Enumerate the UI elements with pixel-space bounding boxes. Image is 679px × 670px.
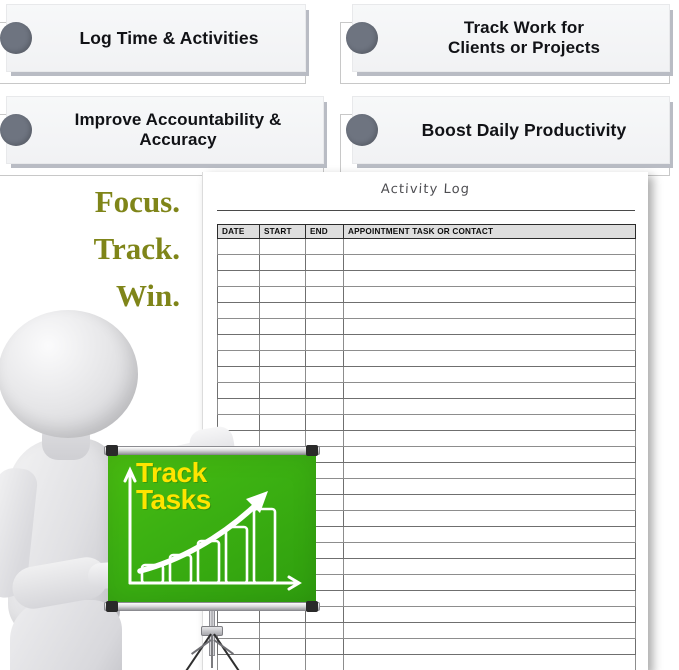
screen-top-bar (104, 446, 320, 455)
table-header-row: DATE START END APPOINTMENT TASK OR CONTA… (218, 225, 636, 239)
table-cell[interactable] (218, 255, 260, 271)
table-cell[interactable] (306, 303, 344, 319)
table-cell[interactable] (344, 319, 636, 335)
screen-face: Track Tasks (108, 455, 316, 603)
table-cell[interactable] (344, 351, 636, 367)
circle-bullet-icon (0, 114, 32, 146)
table-cell[interactable] (344, 639, 636, 655)
table-cell[interactable] (218, 335, 260, 351)
table-row[interactable] (218, 239, 636, 255)
projection-screen: Track Tasks (104, 446, 320, 670)
tripod-brace-right (213, 639, 234, 655)
table-cell[interactable] (260, 255, 306, 271)
table-cell[interactable] (260, 351, 306, 367)
table-cell[interactable] (344, 303, 636, 319)
table-cell[interactable] (344, 511, 636, 527)
banner-title-line1: Track (136, 459, 306, 486)
table-row[interactable] (218, 399, 636, 415)
table-cell[interactable] (344, 623, 636, 639)
feature-label: Boost Daily Productivity (388, 96, 660, 164)
screen-cap-top-right (306, 445, 318, 456)
table-cell[interactable] (344, 527, 636, 543)
table-cell[interactable] (218, 399, 260, 415)
table-cell[interactable] (306, 399, 344, 415)
chart-bar-5 (254, 509, 275, 583)
table-cell[interactable] (306, 351, 344, 367)
feature-label-line1: Track Work for (464, 18, 584, 37)
table-cell[interactable] (218, 319, 260, 335)
table-cell[interactable] (344, 287, 636, 303)
feature-label: Track Work for Clients or Projects (388, 4, 660, 72)
column-header-date: DATE (218, 225, 260, 239)
banner-title-line2: Tasks (136, 486, 306, 513)
feature-label-line2: Accuracy (139, 130, 216, 149)
table-cell[interactable] (306, 383, 344, 399)
chart-bar-4 (226, 527, 247, 583)
table-row[interactable] (218, 415, 636, 431)
table-row[interactable] (218, 255, 636, 271)
table-cell[interactable] (218, 239, 260, 255)
column-header-end: END (306, 225, 344, 239)
table-row[interactable] (218, 335, 636, 351)
slogan-line-2: Track. (20, 225, 180, 272)
table-cell[interactable] (344, 383, 636, 399)
table-cell[interactable] (344, 575, 636, 591)
table-cell[interactable] (218, 303, 260, 319)
table-cell[interactable] (344, 399, 636, 415)
table-cell[interactable] (260, 383, 306, 399)
tripod-center-post (211, 634, 213, 668)
table-cell[interactable] (344, 495, 636, 511)
table-cell[interactable] (344, 415, 636, 431)
column-header-start: START (260, 225, 306, 239)
table-cell[interactable] (306, 335, 344, 351)
column-header-task: APPOINTMENT TASK OR CONTACT (344, 225, 636, 239)
table-cell[interactable] (306, 255, 344, 271)
table-cell[interactable] (306, 367, 344, 383)
circle-bullet-icon (0, 22, 32, 54)
screen-cap-top-left (106, 445, 118, 456)
table-cell[interactable] (260, 319, 306, 335)
table-cell[interactable] (260, 271, 306, 287)
feature-label-line1: Improve Accountability & (75, 110, 282, 129)
tripod-leg-left (184, 633, 211, 670)
feature-label-line2: Clients or Projects (448, 38, 600, 57)
table-cell[interactable] (344, 607, 636, 623)
table-cell[interactable] (260, 303, 306, 319)
table-cell[interactable] (260, 239, 306, 255)
table-cell[interactable] (344, 271, 636, 287)
screen-cap-bottom-left (106, 601, 118, 612)
table-cell[interactable] (306, 271, 344, 287)
page-title: Activity Log (203, 182, 649, 197)
table-cell[interactable] (306, 319, 344, 335)
screen-cap-bottom-right (306, 601, 318, 612)
figure-head (0, 310, 138, 438)
table-cell[interactable] (344, 559, 636, 575)
feature-label: Log Time & Activities (42, 4, 296, 72)
circle-bullet-icon (346, 22, 378, 54)
table-cell[interactable] (344, 335, 636, 351)
circle-bullet-icon (346, 114, 378, 146)
slogan-line-1: Focus. (20, 178, 180, 225)
table-cell[interactable] (344, 255, 636, 271)
table-cell[interactable] (344, 367, 636, 383)
banner-title: Track Tasks (136, 459, 306, 514)
tripod-stand (200, 610, 224, 670)
table-cell[interactable] (344, 655, 636, 670)
table-row[interactable] (218, 271, 636, 287)
table-cell[interactable] (260, 399, 306, 415)
table-cell[interactable] (306, 415, 344, 431)
table-cell[interactable] (260, 367, 306, 383)
table-row[interactable] (218, 303, 636, 319)
slogan: Focus. Track. Win. (20, 178, 180, 319)
table-cell[interactable] (260, 431, 306, 447)
table-cell[interactable] (218, 351, 260, 367)
table-cell[interactable] (344, 463, 636, 479)
table-row[interactable] (218, 367, 636, 383)
tripod-hub (201, 626, 223, 636)
table-row[interactable] (218, 383, 636, 399)
feature-label: Improve Accountability & Accuracy (42, 96, 314, 164)
table-row[interactable] (218, 351, 636, 367)
poster-canvas: Log Time & Activities Track Work for Cli… (0, 0, 679, 670)
table-cell[interactable] (306, 287, 344, 303)
table-cell[interactable] (260, 415, 306, 431)
table-cell[interactable] (218, 287, 260, 303)
table-cell[interactable] (260, 335, 306, 351)
table-cell[interactable] (344, 447, 636, 463)
table-cell[interactable] (306, 239, 344, 255)
table-cell[interactable] (260, 287, 306, 303)
title-divider (217, 210, 635, 211)
table-cell[interactable] (218, 271, 260, 287)
table-cell[interactable] (218, 367, 260, 383)
table-cell[interactable] (344, 591, 636, 607)
table-row[interactable] (218, 319, 636, 335)
tripod-leg-right (213, 633, 240, 670)
table-cell[interactable] (344, 431, 636, 447)
table-row[interactable] (218, 431, 636, 447)
table-row[interactable] (218, 287, 636, 303)
table-cell[interactable] (218, 383, 260, 399)
table-cell[interactable] (344, 543, 636, 559)
table-cell[interactable] (344, 239, 636, 255)
table-cell[interactable] (344, 479, 636, 495)
